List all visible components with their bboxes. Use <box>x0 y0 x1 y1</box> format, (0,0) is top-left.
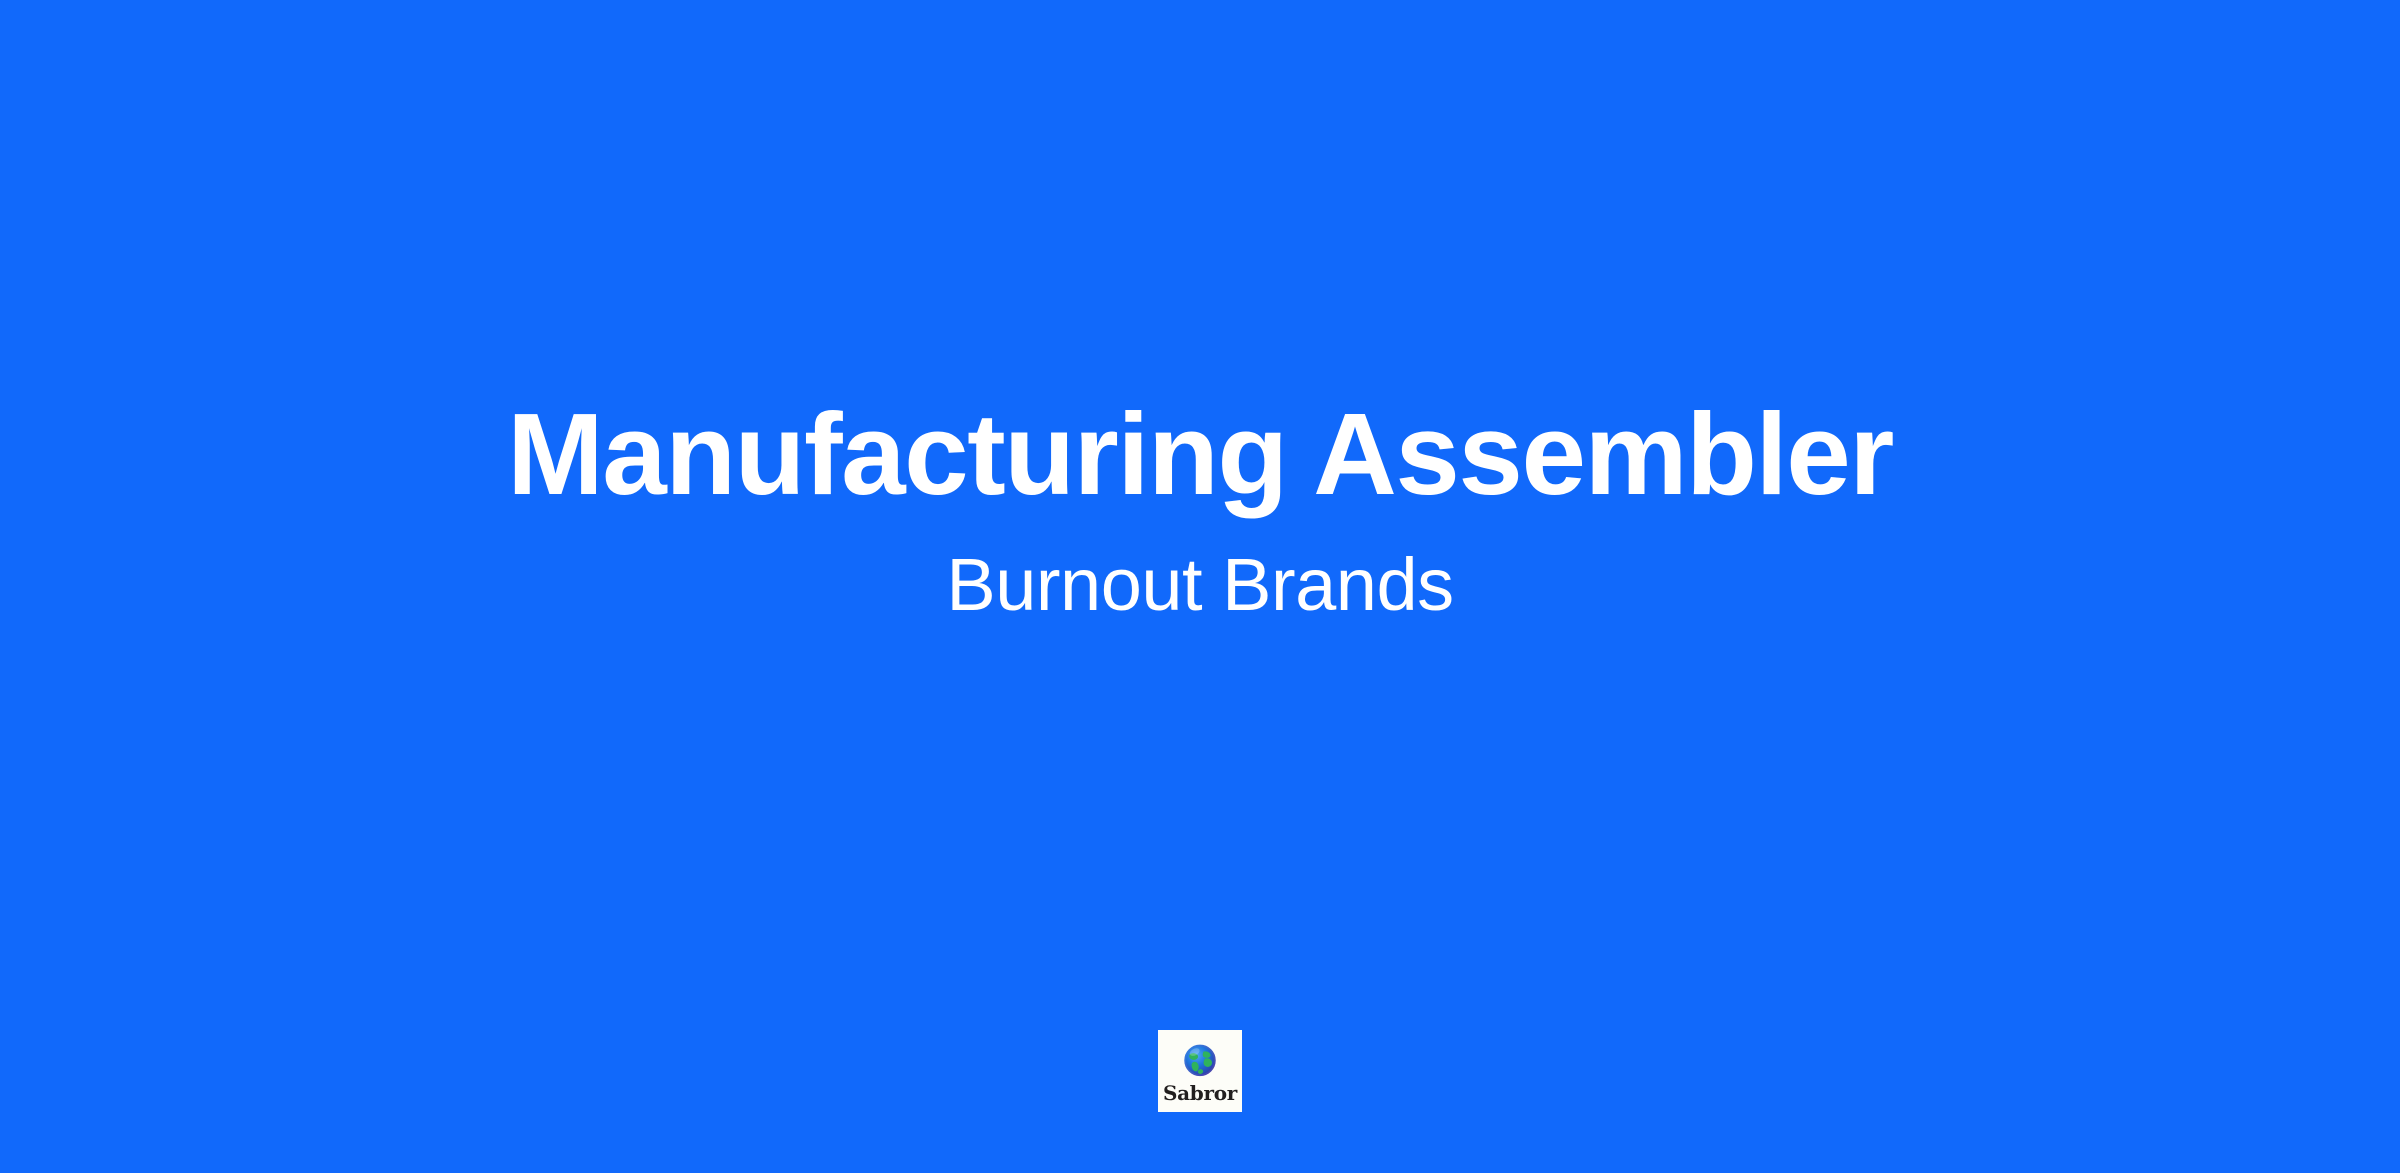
hero-text-block: Manufacturing Assembler Burnout Brands <box>0 0 2400 1173</box>
logo-card: Sabror <box>1158 1030 1242 1112</box>
logo-wordmark: Sabror <box>1163 1083 1237 1103</box>
globe-icon <box>1181 1042 1219 1080</box>
page-subtitle: Burnout Brands <box>946 548 1453 622</box>
page-title: Manufacturing Assembler <box>507 396 1893 512</box>
title-slide: Manufacturing Assembler Burnout Brands <box>0 0 2400 1173</box>
brand-logo: Sabror <box>1158 1030 1242 1112</box>
